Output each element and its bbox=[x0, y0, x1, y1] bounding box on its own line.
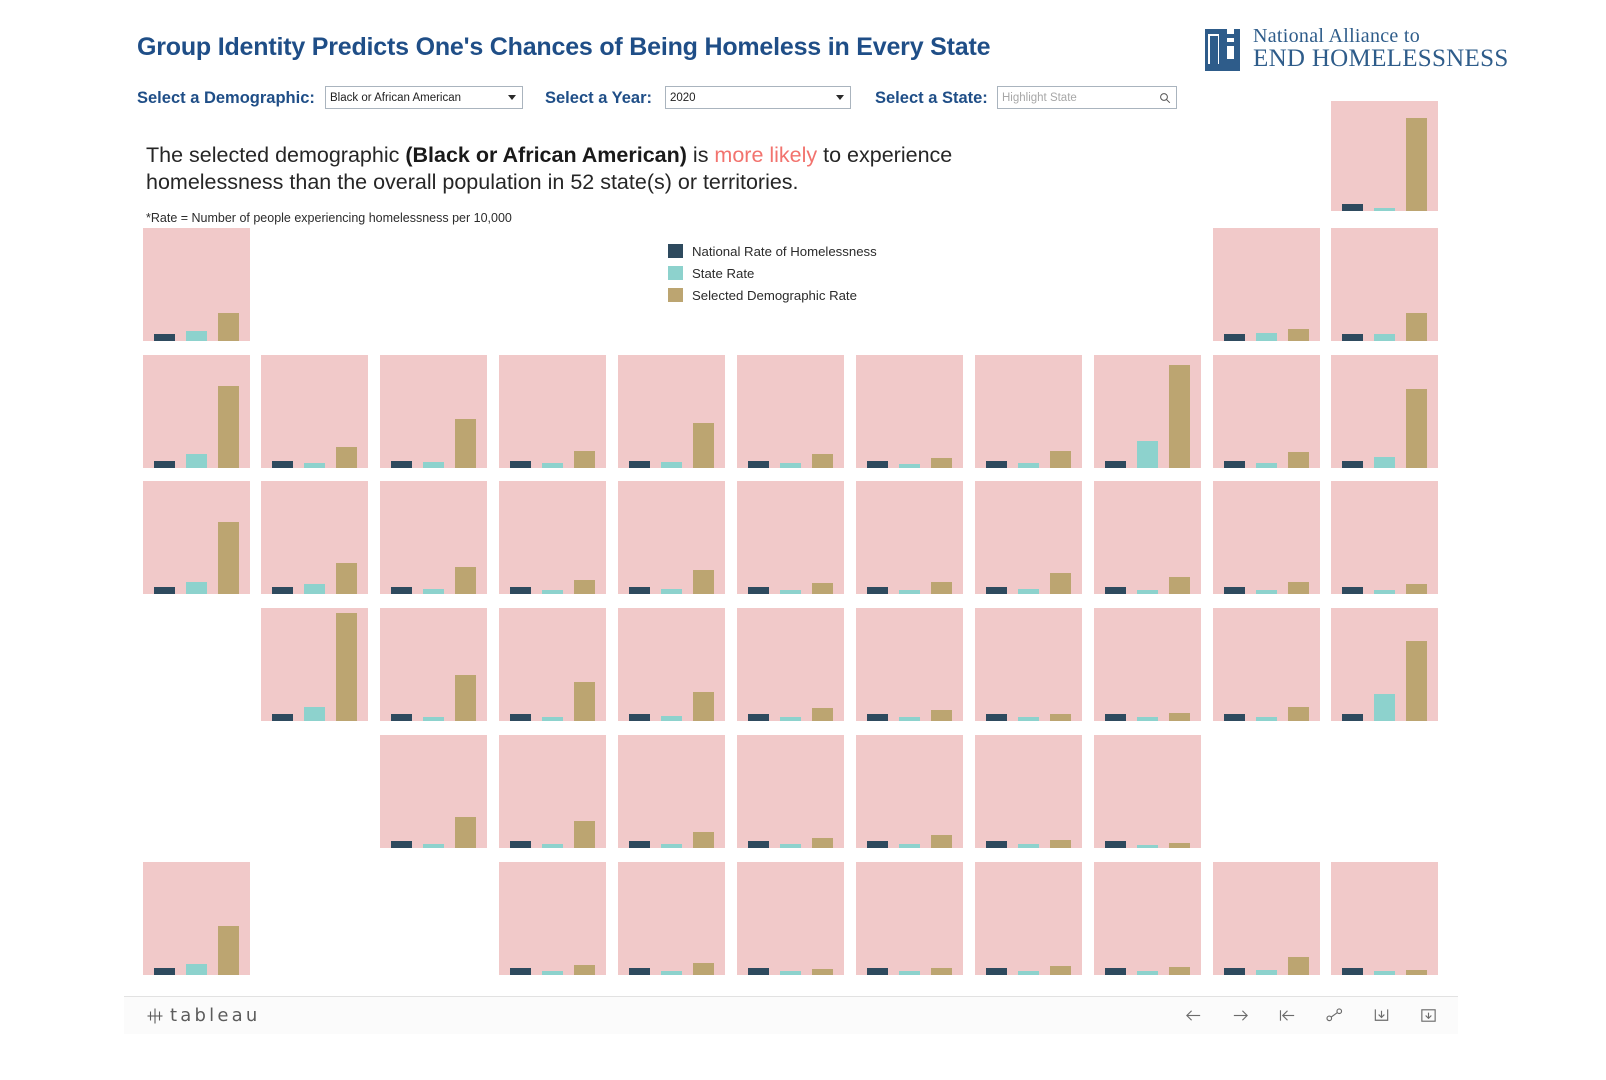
state-panel[interactable] bbox=[143, 355, 250, 468]
bar-national bbox=[1224, 461, 1245, 468]
state-panel[interactable] bbox=[380, 355, 487, 468]
bar-state bbox=[1374, 590, 1395, 594]
bar-state bbox=[1018, 463, 1039, 468]
bar-national bbox=[510, 968, 531, 975]
panel-plot bbox=[1094, 355, 1201, 468]
bar-national bbox=[1224, 587, 1245, 594]
bar-state bbox=[1256, 970, 1277, 975]
bar-national bbox=[867, 461, 888, 468]
bar-state bbox=[661, 971, 682, 975]
bar-national bbox=[867, 587, 888, 594]
state-panel[interactable] bbox=[618, 355, 725, 468]
bar-state bbox=[542, 844, 563, 848]
state-panel[interactable] bbox=[737, 355, 844, 468]
bar-state bbox=[423, 462, 444, 468]
bar-national bbox=[391, 587, 412, 594]
panel-plot bbox=[1094, 735, 1201, 848]
bar-state bbox=[1256, 590, 1277, 594]
state-tile-grid bbox=[0, 0, 1606, 1010]
bar-national bbox=[986, 714, 1007, 721]
bar-state bbox=[1374, 971, 1395, 975]
bar-demographic bbox=[574, 965, 595, 975]
bar-national bbox=[986, 461, 1007, 468]
panel-plot bbox=[975, 735, 1082, 848]
bar-state bbox=[1256, 463, 1277, 468]
fullscreen-icon[interactable] bbox=[1419, 1006, 1438, 1025]
panel-plot bbox=[737, 355, 844, 468]
state-panel[interactable] bbox=[856, 608, 963, 721]
bar-demographic bbox=[218, 926, 239, 975]
bar-demographic bbox=[218, 386, 239, 468]
panel-plot bbox=[499, 608, 606, 721]
bar-demographic bbox=[1050, 966, 1071, 975]
bar-demographic bbox=[455, 675, 476, 721]
bar-state bbox=[1374, 208, 1395, 211]
bar-national bbox=[986, 841, 1007, 848]
panel-plot bbox=[856, 608, 963, 721]
bar-national bbox=[391, 841, 412, 848]
panel-plot bbox=[975, 608, 1082, 721]
bar-national bbox=[510, 461, 531, 468]
bar-national bbox=[867, 968, 888, 975]
bar-demographic bbox=[812, 583, 833, 594]
bar-demographic bbox=[1288, 452, 1309, 468]
bar-national bbox=[272, 714, 293, 721]
bar-demographic bbox=[931, 458, 952, 468]
bar-state bbox=[186, 331, 207, 341]
bar-national bbox=[1105, 461, 1126, 468]
bar-national bbox=[391, 714, 412, 721]
bar-state bbox=[780, 590, 801, 594]
toolbar-actions bbox=[1184, 1006, 1438, 1025]
bar-national bbox=[867, 841, 888, 848]
panel-plot bbox=[499, 735, 606, 848]
bar-national bbox=[1224, 714, 1245, 721]
bar-state bbox=[899, 844, 920, 848]
panel-plot bbox=[499, 355, 606, 468]
bar-demographic bbox=[1169, 713, 1190, 721]
panel-plot bbox=[856, 355, 963, 468]
panel-plot bbox=[143, 862, 250, 975]
bar-national bbox=[1224, 968, 1245, 975]
bar-national bbox=[154, 587, 175, 594]
bar-state bbox=[1137, 441, 1158, 468]
bar-national bbox=[510, 587, 531, 594]
panel-plot bbox=[1331, 101, 1438, 211]
state-panel[interactable] bbox=[1213, 355, 1320, 468]
panel-plot bbox=[975, 355, 1082, 468]
panel-plot bbox=[1094, 608, 1201, 721]
bar-demographic bbox=[1406, 584, 1427, 594]
bar-demographic bbox=[574, 682, 595, 721]
bar-national bbox=[272, 461, 293, 468]
panel-plot bbox=[1094, 481, 1201, 594]
bar-demographic bbox=[455, 567, 476, 594]
state-panel[interactable] bbox=[1331, 481, 1438, 594]
bar-demographic bbox=[336, 447, 357, 468]
bar-demographic bbox=[1050, 451, 1071, 468]
dashboard-root: Group Identity Predicts One's Chances of… bbox=[0, 0, 1606, 1080]
panel-plot bbox=[1213, 481, 1320, 594]
bar-demographic bbox=[574, 451, 595, 468]
state-panel[interactable] bbox=[975, 608, 1082, 721]
bar-state bbox=[542, 717, 563, 721]
bar-state bbox=[1137, 971, 1158, 975]
bar-national bbox=[1105, 714, 1126, 721]
state-panel[interactable] bbox=[975, 735, 1082, 848]
bar-state bbox=[423, 717, 444, 721]
panel-plot bbox=[499, 481, 606, 594]
bar-national bbox=[1342, 334, 1363, 341]
bar-demographic bbox=[1406, 313, 1427, 341]
bar-state bbox=[1256, 333, 1277, 341]
tableau-brand[interactable]: tableau bbox=[146, 1005, 260, 1026]
bar-state bbox=[661, 462, 682, 468]
bar-state bbox=[304, 707, 325, 721]
bar-demographic bbox=[1288, 582, 1309, 594]
bar-demographic bbox=[693, 963, 714, 975]
state-panel[interactable] bbox=[856, 735, 963, 848]
bar-state bbox=[542, 463, 563, 468]
bar-demographic bbox=[336, 613, 357, 721]
state-panel[interactable] bbox=[856, 862, 963, 975]
bar-demographic bbox=[1406, 118, 1427, 211]
panel-plot bbox=[856, 862, 963, 975]
bar-state bbox=[780, 463, 801, 468]
state-panel[interactable] bbox=[499, 608, 606, 721]
tableau-toolbar: tableau bbox=[124, 996, 1458, 1034]
state-panel[interactable] bbox=[380, 608, 487, 721]
state-panel[interactable] bbox=[737, 735, 844, 848]
bar-state bbox=[1018, 717, 1039, 721]
bar-demographic bbox=[812, 708, 833, 721]
bar-state bbox=[186, 454, 207, 468]
bar-state bbox=[780, 717, 801, 721]
state-panel[interactable] bbox=[1331, 608, 1438, 721]
panel-plot bbox=[1331, 481, 1438, 594]
bar-national bbox=[1105, 968, 1126, 975]
bar-state bbox=[661, 589, 682, 594]
bar-demographic bbox=[1169, 365, 1190, 468]
panel-plot bbox=[1331, 228, 1438, 341]
state-panel[interactable] bbox=[856, 481, 963, 594]
panel-plot bbox=[380, 608, 487, 721]
panel-plot bbox=[143, 481, 250, 594]
bar-state bbox=[423, 589, 444, 594]
state-panel[interactable] bbox=[737, 481, 844, 594]
panel-plot bbox=[1331, 608, 1438, 721]
state-panel[interactable] bbox=[737, 608, 844, 721]
bar-state bbox=[186, 964, 207, 975]
bar-national bbox=[1342, 461, 1363, 468]
bar-state bbox=[542, 590, 563, 594]
bar-state bbox=[423, 844, 444, 848]
state-panel[interactable] bbox=[975, 862, 1082, 975]
panel-plot bbox=[380, 481, 487, 594]
state-panel[interactable] bbox=[499, 355, 606, 468]
bar-demographic bbox=[1288, 957, 1309, 975]
state-panel[interactable] bbox=[261, 481, 368, 594]
panel-plot bbox=[856, 481, 963, 594]
bar-national bbox=[272, 587, 293, 594]
state-panel[interactable] bbox=[975, 355, 1082, 468]
bar-demographic bbox=[931, 968, 952, 975]
state-panel[interactable] bbox=[1094, 862, 1201, 975]
bar-state bbox=[1018, 844, 1039, 848]
bar-demographic bbox=[1406, 641, 1427, 721]
panel-plot bbox=[737, 735, 844, 848]
bar-demographic bbox=[1288, 707, 1309, 721]
bar-demographic bbox=[693, 570, 714, 594]
panel-plot bbox=[380, 355, 487, 468]
bar-demographic bbox=[931, 835, 952, 848]
state-panel[interactable] bbox=[737, 862, 844, 975]
panel-plot bbox=[618, 355, 725, 468]
bar-national bbox=[986, 968, 1007, 975]
state-panel[interactable] bbox=[261, 355, 368, 468]
state-panel[interactable] bbox=[499, 735, 606, 848]
bar-state bbox=[899, 464, 920, 468]
tableau-wordmark: tableau bbox=[170, 1005, 260, 1026]
bar-demographic bbox=[1169, 843, 1190, 848]
state-panel[interactable] bbox=[1094, 355, 1201, 468]
bar-national bbox=[629, 587, 650, 594]
bar-national bbox=[867, 714, 888, 721]
bar-national bbox=[986, 587, 1007, 594]
state-panel[interactable] bbox=[1331, 101, 1438, 211]
panel-plot bbox=[143, 355, 250, 468]
bar-state bbox=[899, 717, 920, 721]
bar-state bbox=[780, 844, 801, 848]
download-icon[interactable] bbox=[1372, 1006, 1391, 1025]
bar-state bbox=[1374, 457, 1395, 468]
state-panel[interactable] bbox=[618, 862, 725, 975]
bar-national bbox=[748, 587, 769, 594]
bar-state bbox=[661, 716, 682, 721]
bar-state bbox=[899, 971, 920, 975]
bar-state bbox=[1137, 717, 1158, 721]
panel-plot bbox=[975, 862, 1082, 975]
bar-demographic bbox=[574, 821, 595, 848]
state-panel[interactable] bbox=[143, 862, 250, 975]
panel-plot bbox=[1213, 862, 1320, 975]
bar-demographic bbox=[455, 817, 476, 848]
bar-demographic bbox=[218, 522, 239, 594]
bar-state bbox=[1137, 845, 1158, 848]
tableau-mark-icon bbox=[146, 1007, 164, 1025]
state-panel[interactable] bbox=[499, 481, 606, 594]
panel-plot bbox=[856, 735, 963, 848]
bar-state bbox=[186, 582, 207, 594]
panel-plot bbox=[1094, 862, 1201, 975]
bar-national bbox=[748, 714, 769, 721]
bar-demographic bbox=[931, 582, 952, 594]
panel-plot bbox=[1331, 862, 1438, 975]
state-panel[interactable] bbox=[618, 735, 725, 848]
bar-demographic bbox=[574, 580, 595, 594]
bar-national bbox=[154, 968, 175, 975]
bar-demographic bbox=[693, 423, 714, 468]
state-panel[interactable] bbox=[1213, 228, 1320, 341]
bar-national bbox=[629, 841, 650, 848]
bar-state bbox=[1137, 590, 1158, 594]
panel-plot bbox=[261, 481, 368, 594]
forward-icon[interactable] bbox=[1231, 1006, 1250, 1025]
bar-state bbox=[542, 971, 563, 975]
state-panel[interactable] bbox=[1213, 481, 1320, 594]
bar-state bbox=[1374, 694, 1395, 721]
state-panel[interactable] bbox=[380, 481, 487, 594]
panel-plot bbox=[618, 608, 725, 721]
bar-demographic bbox=[1406, 389, 1427, 468]
bar-national bbox=[748, 968, 769, 975]
panel-plot bbox=[737, 481, 844, 594]
state-panel[interactable] bbox=[1213, 862, 1320, 975]
back-icon[interactable] bbox=[1184, 1006, 1203, 1025]
panel-plot bbox=[261, 355, 368, 468]
state-panel[interactable] bbox=[975, 481, 1082, 594]
bar-national bbox=[1224, 334, 1245, 341]
state-panel[interactable] bbox=[499, 862, 606, 975]
bar-state bbox=[1374, 334, 1395, 341]
revert-icon[interactable] bbox=[1278, 1006, 1297, 1025]
state-panel[interactable] bbox=[1094, 608, 1201, 721]
bar-national bbox=[510, 841, 531, 848]
bar-state bbox=[304, 463, 325, 468]
state-panel[interactable] bbox=[261, 608, 368, 721]
bar-national bbox=[629, 714, 650, 721]
panel-plot bbox=[261, 608, 368, 721]
panel-plot bbox=[1213, 608, 1320, 721]
bar-national bbox=[748, 461, 769, 468]
bar-demographic bbox=[1169, 967, 1190, 975]
bar-demographic bbox=[1169, 577, 1190, 594]
state-panel[interactable] bbox=[380, 735, 487, 848]
state-panel[interactable] bbox=[1213, 608, 1320, 721]
bar-state bbox=[1018, 971, 1039, 975]
bar-demographic bbox=[693, 692, 714, 721]
panel-plot bbox=[737, 862, 844, 975]
panel-plot bbox=[618, 862, 725, 975]
bar-demographic bbox=[1050, 573, 1071, 594]
bar-demographic bbox=[336, 563, 357, 594]
state-panel[interactable] bbox=[1331, 862, 1438, 975]
panel-plot bbox=[1213, 228, 1320, 341]
panel-plot bbox=[737, 608, 844, 721]
bar-demographic bbox=[693, 832, 714, 848]
bar-state bbox=[899, 590, 920, 594]
bar-demographic bbox=[1050, 840, 1071, 848]
panel-plot bbox=[143, 228, 250, 341]
bar-state bbox=[304, 584, 325, 594]
bar-national bbox=[510, 714, 531, 721]
share-icon[interactable] bbox=[1325, 1006, 1344, 1025]
bar-demographic bbox=[931, 710, 952, 721]
panel-plot bbox=[1213, 355, 1320, 468]
bar-national bbox=[1342, 968, 1363, 975]
bar-national bbox=[1342, 204, 1363, 211]
bar-national bbox=[154, 461, 175, 468]
panel-plot bbox=[380, 735, 487, 848]
bar-national bbox=[748, 841, 769, 848]
state-panel[interactable] bbox=[1094, 481, 1201, 594]
bar-national bbox=[629, 461, 650, 468]
state-panel[interactable] bbox=[856, 355, 963, 468]
panel-plot bbox=[975, 481, 1082, 594]
bar-state bbox=[1018, 589, 1039, 594]
bar-demographic bbox=[1288, 329, 1309, 341]
bar-state bbox=[661, 844, 682, 848]
panel-plot bbox=[499, 862, 606, 975]
bar-demographic bbox=[1406, 970, 1427, 975]
bar-state bbox=[1256, 717, 1277, 721]
state-panel[interactable] bbox=[618, 608, 725, 721]
state-panel[interactable] bbox=[143, 228, 250, 341]
bar-demographic bbox=[455, 419, 476, 468]
bar-national bbox=[629, 968, 650, 975]
bar-national bbox=[1105, 841, 1126, 848]
state-panel[interactable] bbox=[143, 481, 250, 594]
bar-national bbox=[1105, 587, 1126, 594]
state-panel[interactable] bbox=[1331, 228, 1438, 341]
bar-demographic bbox=[812, 454, 833, 468]
panel-plot bbox=[618, 481, 725, 594]
bar-national bbox=[1342, 587, 1363, 594]
panel-plot bbox=[1331, 355, 1438, 468]
bar-demographic bbox=[1050, 714, 1071, 721]
bar-state bbox=[780, 971, 801, 975]
bar-demographic bbox=[218, 313, 239, 341]
state-panel[interactable] bbox=[1331, 355, 1438, 468]
panel-plot bbox=[618, 735, 725, 848]
bar-demographic bbox=[812, 838, 833, 848]
bar-national bbox=[391, 461, 412, 468]
bar-national bbox=[154, 334, 175, 341]
state-panel[interactable] bbox=[618, 481, 725, 594]
bar-national bbox=[1342, 714, 1363, 721]
state-panel[interactable] bbox=[1094, 735, 1201, 848]
bar-demographic bbox=[812, 969, 833, 975]
